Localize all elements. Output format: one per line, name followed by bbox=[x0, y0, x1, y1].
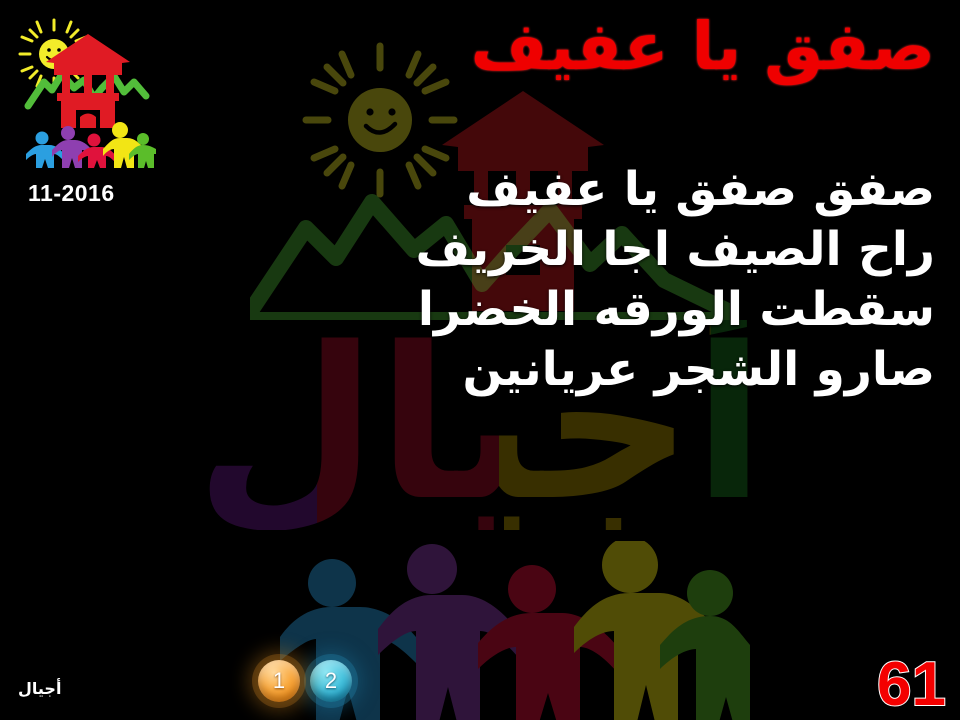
logo-people-chain-icon bbox=[26, 122, 156, 168]
karaoke-slide: أجيال bbox=[0, 0, 960, 720]
lyric-line: صارو الشجر عريانين bbox=[275, 340, 935, 400]
slide-counter: 61 bbox=[877, 654, 946, 716]
organization-logo bbox=[18, 18, 158, 168]
page-navigation: 2 1 bbox=[258, 660, 352, 702]
page-button-1[interactable]: 1 bbox=[258, 660, 300, 702]
page-button-2[interactable]: 2 bbox=[310, 660, 352, 702]
lyric-line: صفق صفق يا عفيف bbox=[275, 160, 935, 220]
lyric-line: سقطت الورقه الخضرا bbox=[275, 280, 935, 340]
song-title: صفق يا عفيف bbox=[471, 8, 935, 86]
logo-date: 11-2016 bbox=[28, 180, 115, 207]
brand-label: أجيال bbox=[18, 679, 61, 698]
lyrics-block: صفق صفق يا عفيف راح الصيف اجا الخريف سقط… bbox=[275, 160, 935, 401]
lyric-line: راح الصيف اجا الخريف bbox=[275, 220, 935, 280]
